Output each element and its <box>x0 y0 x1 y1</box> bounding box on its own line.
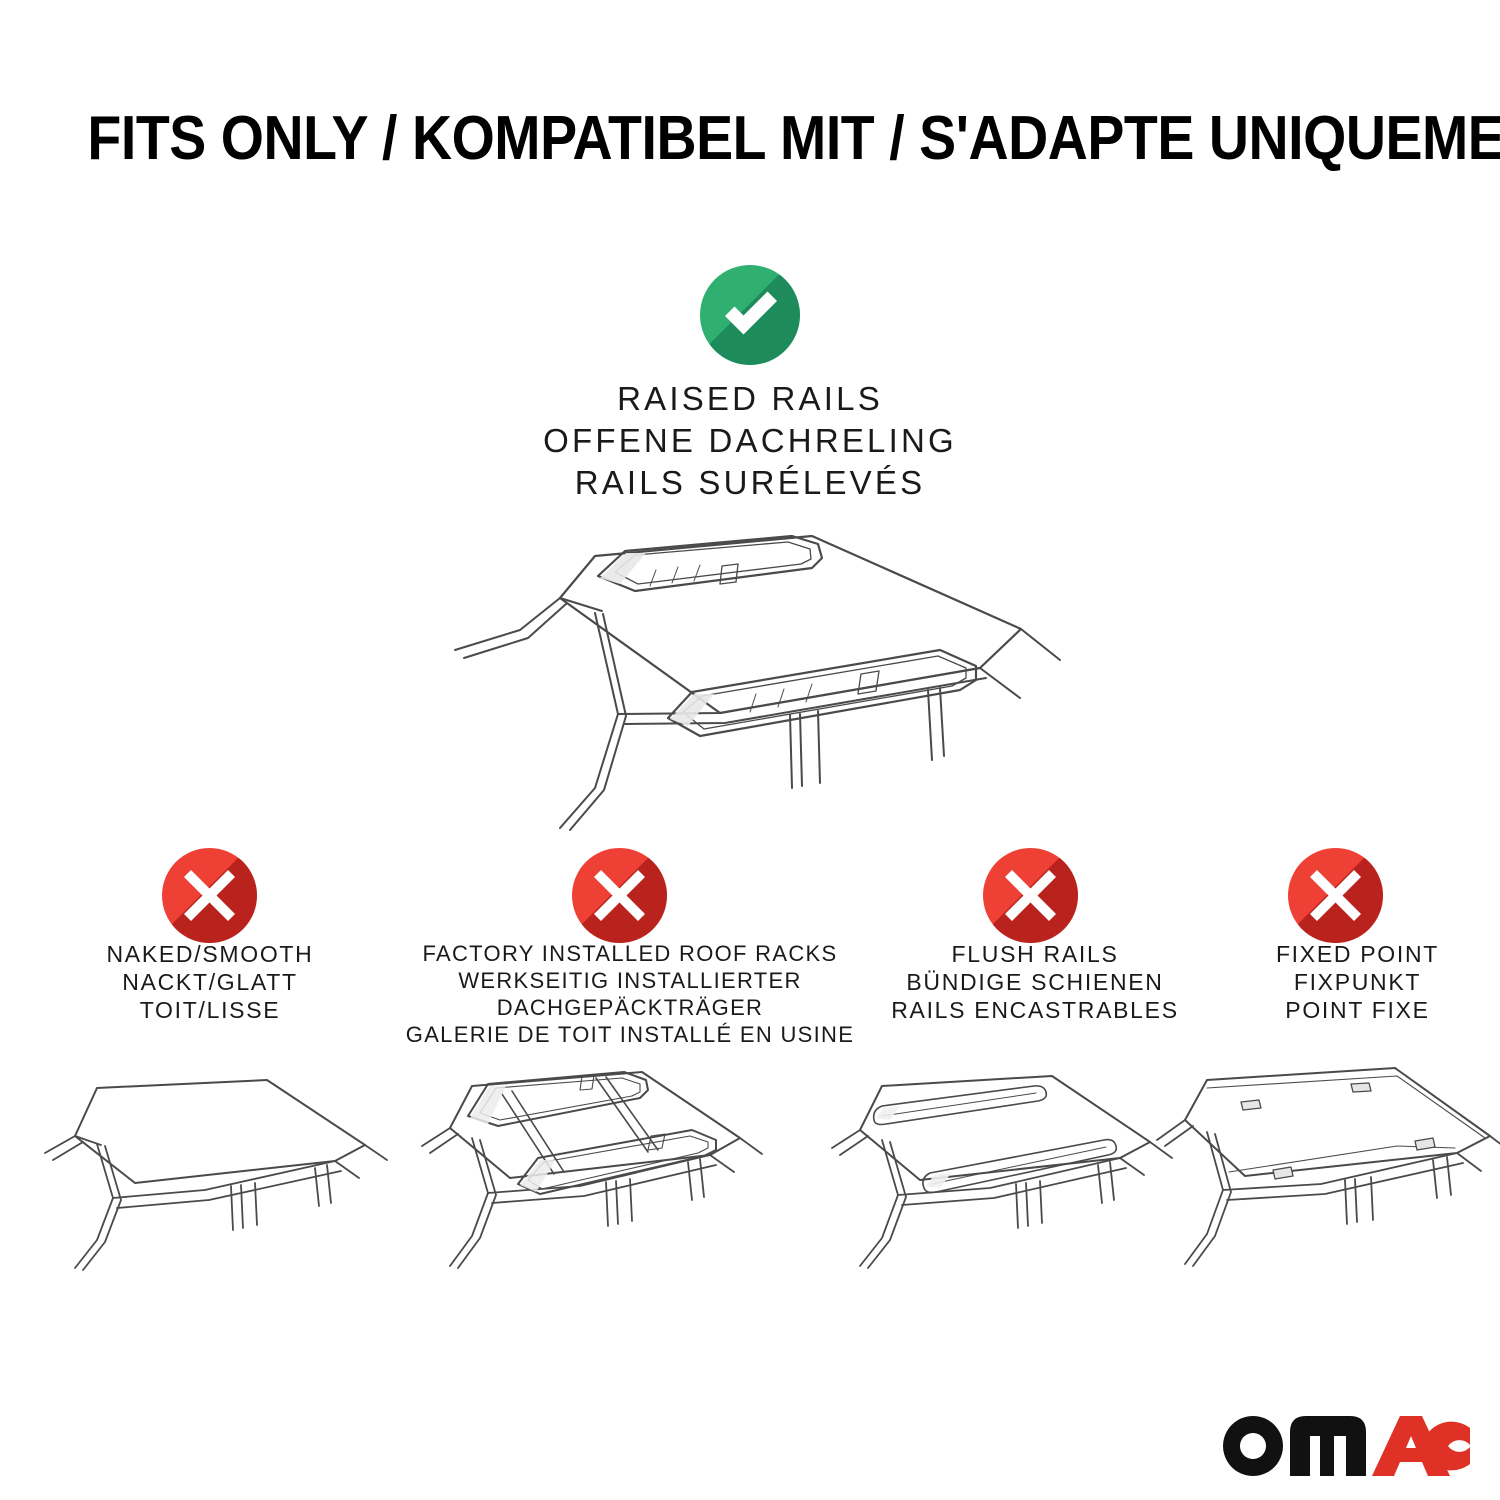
incompatible-line-2: NACKT/GLATT <box>40 968 380 996</box>
x-circle-icon <box>162 848 257 943</box>
check-mark-icon <box>700 265 800 365</box>
x-circle-icon <box>1288 848 1383 943</box>
incompatible-line-3: POINT FIXE <box>1215 996 1500 1024</box>
incompatible-label: FLUSH RAILS BÜNDIGE SCHIENEN RAILS ENCAS… <box>865 940 1205 1024</box>
logo-letter-m <box>1290 1416 1366 1476</box>
car-roof-naked-smooth-illustration <box>35 1058 425 1293</box>
incompatible-column-factory-roof-racks: FACTORY INSTALLED ROOF RACKS WERKSEITIG … <box>395 940 865 1048</box>
incompatible-line-1: NAKED/SMOOTH <box>40 940 380 968</box>
check-circle-icon <box>700 265 800 365</box>
compatible-line-2: OFFENE DACHRELING <box>0 420 1500 462</box>
page-title-text: FITS ONLY / KOMPATIBEL MIT / S'ADAPTE UN… <box>87 104 1500 174</box>
car-roof-factory-roof-racks-illustration <box>410 1058 800 1293</box>
incompatible-line-2: WERKSEITIG INSTALLIERTER <box>395 967 865 994</box>
incompatible-line-2: FIXPUNKT <box>1215 968 1500 996</box>
x-mark-icon <box>983 848 1078 943</box>
omac-logo <box>1222 1414 1470 1478</box>
incompatible-line-1: FLUSH RAILS <box>865 940 1205 968</box>
incompatible-column-naked-smooth: NAKED/SMOOTH NACKT/GLATT TOIT/LISSE <box>40 940 380 1024</box>
x-circle-icon <box>572 848 667 943</box>
incompatible-line-3: DACHGEPÄCKTRÄGER <box>395 994 865 1021</box>
incompatible-line-4: GALERIE DE TOIT INSTALLÉ EN USINE <box>395 1021 865 1048</box>
incompatible-column-fixed-point: FIXED POINT FIXPUNKT POINT FIXE <box>1215 940 1500 1024</box>
x-circle-icon <box>983 848 1078 943</box>
incompatible-label: FIXED POINT FIXPUNKT POINT FIXE <box>1215 940 1500 1024</box>
incompatible-label: NAKED/SMOOTH NACKT/GLATT TOIT/LISSE <box>40 940 380 1024</box>
compatible-line-1: RAISED RAILS <box>0 378 1500 420</box>
logo-letter-o <box>1223 1416 1283 1476</box>
incompatible-line-1: FIXED POINT <box>1215 940 1500 968</box>
x-mark-icon <box>1288 848 1383 943</box>
x-mark-icon <box>162 848 257 943</box>
car-roof-raised-rails-illustration <box>420 498 1080 834</box>
incompatible-line-3: TOIT/LISSE <box>40 996 380 1024</box>
incompatible-label: FACTORY INSTALLED ROOF RACKS WERKSEITIG … <box>395 940 865 1048</box>
incompatible-column-flush-rails: FLUSH RAILS BÜNDIGE SCHIENEN RAILS ENCAS… <box>865 940 1205 1024</box>
incompatible-line-1: FACTORY INSTALLED ROOF RACKS <box>395 940 865 967</box>
compatible-caption: RAISED RAILS OFFENE DACHRELING RAILS SUR… <box>0 378 1500 504</box>
page-title: FITS ONLY / KOMPATIBEL MIT / S'ADAPTE UN… <box>0 104 1500 174</box>
car-roof-fixed-point-illustration <box>1145 1058 1500 1293</box>
incompatible-line-2: BÜNDIGE SCHIENEN <box>865 968 1205 996</box>
incompatible-line-3: RAILS ENCASTRABLES <box>865 996 1205 1024</box>
x-mark-icon <box>572 848 667 943</box>
